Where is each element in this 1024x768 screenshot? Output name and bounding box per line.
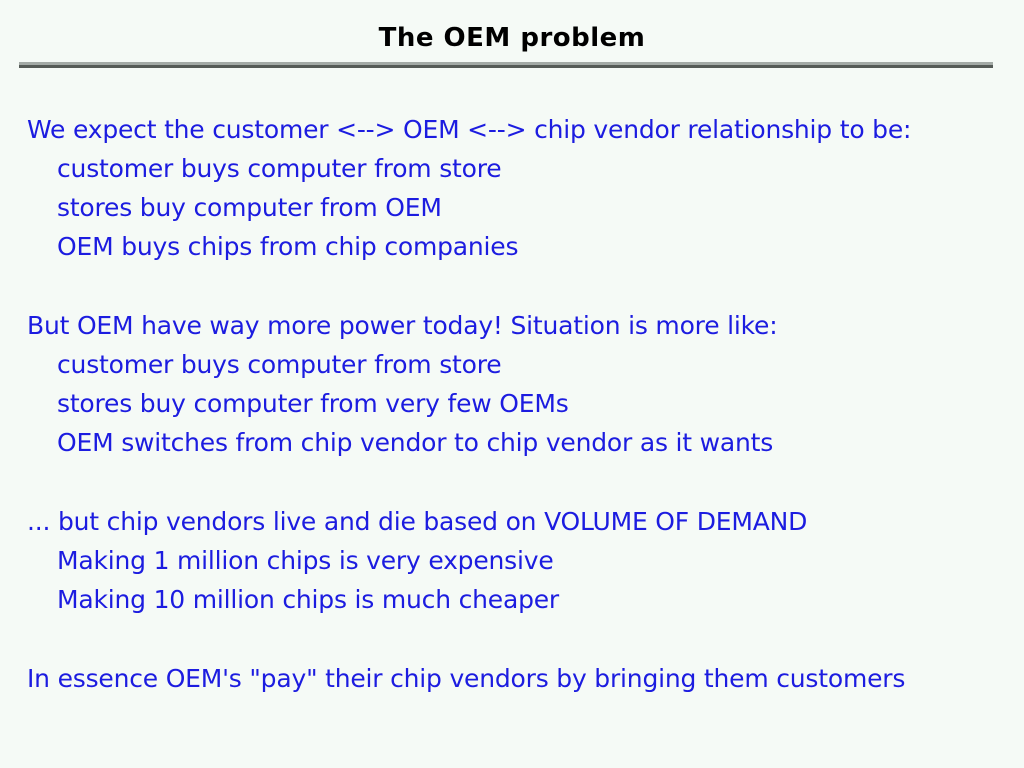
block-spacer <box>0 266 1024 306</box>
bullet-item: customer buys computer from store <box>57 345 1024 384</box>
bullet-item: stores buy computer from very few OEMs <box>57 384 1024 423</box>
block-heading: We expect the customer <--> OEM <--> chi… <box>27 110 1024 149</box>
content-block-volume-of-demand: ... but chip vendors live and die based … <box>0 502 1024 619</box>
bullet-item: customer buys computer from store <box>57 149 1024 188</box>
block-spacer <box>0 462 1024 502</box>
conclusion-line: In essence OEM's "pay" their chip vendor… <box>27 659 1024 698</box>
block-spacer <box>0 619 1024 659</box>
bullet-item: OEM switches from chip vendor to chip ve… <box>57 423 1024 462</box>
slide-body: We expect the customer <--> OEM <--> chi… <box>0 110 1024 698</box>
bullet-item: Making 10 million chips is much cheaper <box>57 580 1024 619</box>
content-block-conclusion: In essence OEM's "pay" their chip vendor… <box>0 659 1024 698</box>
bullet-item: stores buy computer from OEM <box>57 188 1024 227</box>
block-heading: ... but chip vendors live and die based … <box>27 502 1024 541</box>
bullet-item: OEM buys chips from chip companies <box>57 227 1024 266</box>
title-divider <box>19 62 993 68</box>
divider-shadow <box>19 65 993 68</box>
bullet-item: Making 1 million chips is very expensive <box>57 541 1024 580</box>
page-title: The OEM problem <box>0 22 1024 54</box>
content-block-expected-relationship: We expect the customer <--> OEM <--> chi… <box>0 110 1024 266</box>
block-heading: But OEM have way more power today! Situa… <box>27 306 1024 345</box>
slide-canvas: The OEM problem We expect the customer <… <box>0 0 1024 768</box>
content-block-actual-situation: But OEM have way more power today! Situa… <box>0 306 1024 462</box>
